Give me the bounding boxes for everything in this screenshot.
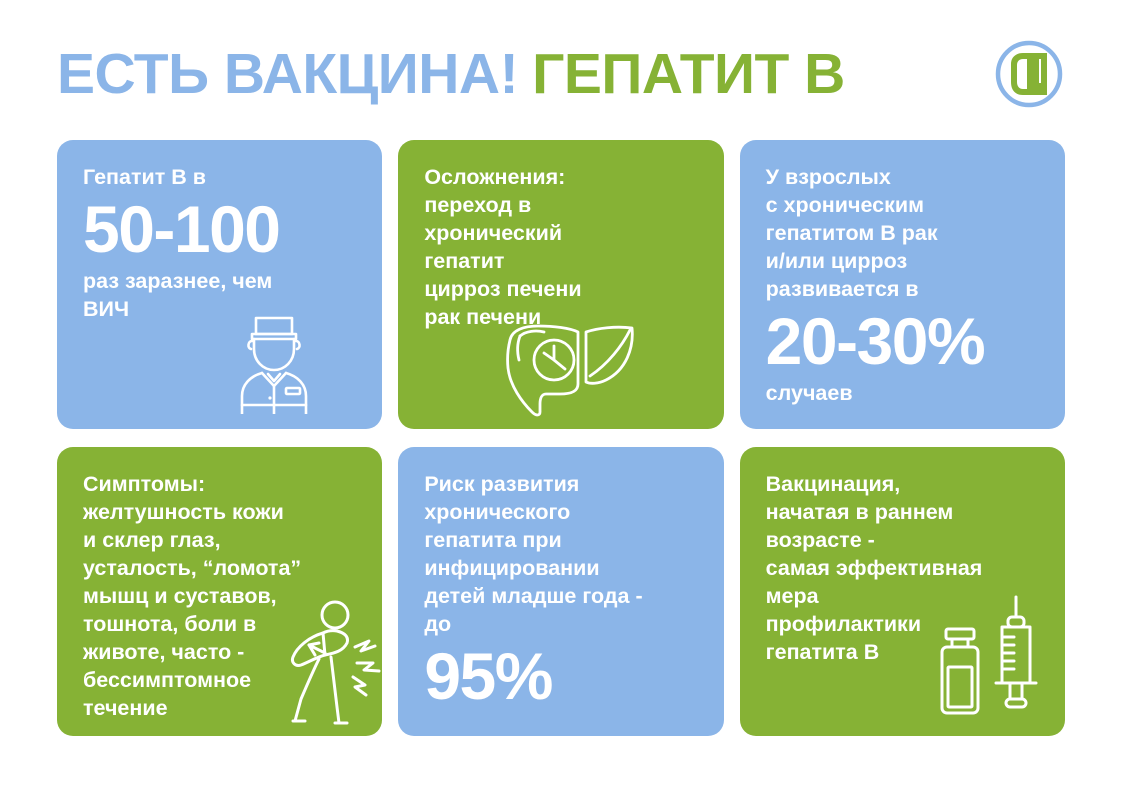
card-infectiousness-sub: раз заразнее, чем ВИЧ	[83, 268, 358, 324]
card-complications-lead: Осложнения: переход в хронический гепати…	[424, 164, 699, 332]
page-header: ЕСТЬ ВАКЦИНА! ГЕПАТИТ В	[57, 34, 1065, 114]
card-adults-value: 20-30%	[766, 308, 1041, 374]
card-adults-lead: У взрослых с хроническим гепатитом В рак…	[766, 164, 1041, 304]
card-vaccination-lead: Вакцинация, начатая в раннем возрасте - …	[766, 471, 1041, 667]
facts-grid: Гепатит В в 50-100 раз заразнее, чем ВИЧ	[57, 140, 1065, 736]
card-symptoms: Симптомы: желтушность кожи и склер глаз,…	[57, 447, 382, 736]
clinic-monogram-logo-icon	[993, 38, 1065, 110]
card-complications: Осложнения: переход в хронический гепати…	[398, 140, 723, 429]
card-infectiousness-value: 50-100	[83, 196, 358, 262]
card-infant-risk-lead: Риск развития хронического гепатита при …	[424, 471, 699, 639]
title-part-vaccine: ЕСТЬ ВАКЦИНА!	[57, 46, 518, 103]
page-title: ЕСТЬ ВАКЦИНА! ГЕПАТИТ В	[57, 46, 845, 103]
card-vaccination: Вакцинация, начатая в раннем возрасте - …	[740, 447, 1065, 736]
card-infant-risk-value: 95%	[424, 643, 699, 709]
card-symptoms-lead: Симптомы: желтушность кожи и склер глаз,…	[83, 471, 358, 722]
title-part-hepatitis: ГЕПАТИТ В	[532, 46, 845, 103]
liver-clock-icon	[498, 318, 648, 418]
infographic-page: ЕСТЬ ВАКЦИНА! ГЕПАТИТ В Гепатит В в 50-1…	[0, 0, 1122, 793]
card-infectiousness-lead: Гепатит В в	[83, 164, 358, 192]
card-infectiousness: Гепатит В в 50-100 раз заразнее, чем ВИЧ	[57, 140, 382, 429]
doctor-icon	[212, 310, 336, 414]
card-adults-sub: случаев	[766, 380, 1041, 408]
card-infant-risk: Риск развития хронического гепатита при …	[398, 447, 723, 736]
card-adults-cancer-cirrhosis: У взрослых с хроническим гепатитом В рак…	[740, 140, 1065, 429]
